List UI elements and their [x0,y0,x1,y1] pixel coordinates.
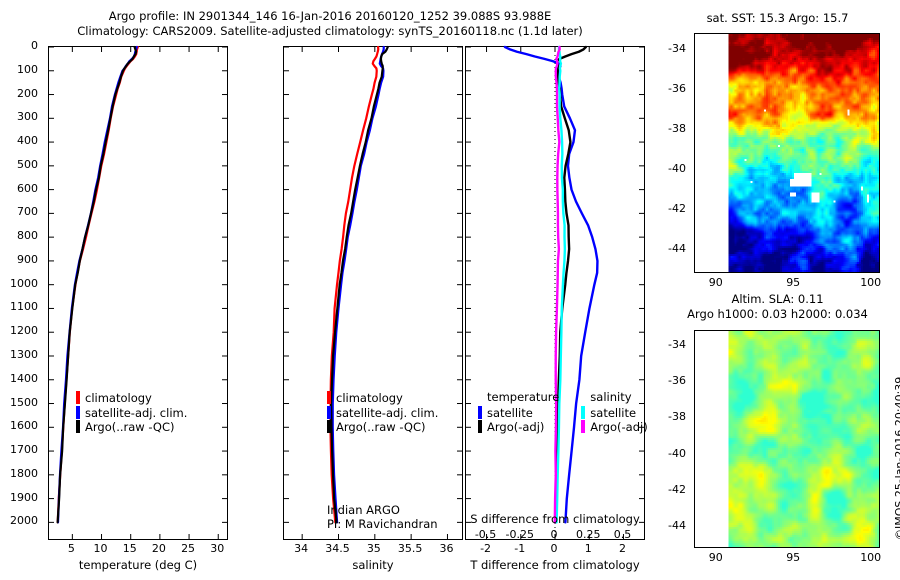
legend-color-swatch [327,391,331,404]
depth-tick-label: 1500 [10,396,38,409]
sst-map-frame [694,33,880,273]
temperature-difference-tick-label: 2 [598,542,646,555]
sst-latitude-tick-label: -34 [668,42,686,55]
sst-latitude-tick-label: -38 [668,122,686,135]
salinity-legend-row: Argo(..raw -QC) [327,419,438,434]
legend-label: satellite [487,406,533,420]
legend-label: Argo(..raw -QC) [85,420,175,434]
temperature-plot-canvas [49,47,227,539]
legend-label: satellite-adj. clim. [336,406,438,420]
sla-map-frame [694,330,880,548]
temperature-plot-frame [48,46,228,540]
difference-plot-frame [465,46,645,540]
sla-map-latitude-ticklabels: -34-36-38-40-42-44 [650,330,692,548]
temperature-legend-row: climatology [76,390,187,405]
sst-latitude-tick-label: -42 [668,202,686,215]
temperature-difference-axis-label: T difference from climatology [459,558,651,572]
legend-label: Argo(-adj) [590,420,647,434]
sla-latitude-tick-label: -36 [668,374,686,387]
depth-tick-label: 1700 [10,443,38,456]
sst-map-longitude-ticklabels: 9095100 [694,275,880,291]
depth-axis-ticklabels: 0100200300400500600700800900100011001200… [0,46,44,540]
difference-legend-temperature: temperaturesatelliteArgo(-adj) [478,390,559,434]
legend-color-swatch [76,391,80,404]
legend-color-swatch [76,406,80,419]
legend-label: satellite [590,406,636,420]
legend-color-swatch [478,406,482,419]
salinity-plot-canvas [284,47,462,539]
depth-tick-label: 700 [17,205,38,218]
sst-longitude-tick-label: 90 [694,276,738,289]
depth-tick-label: 1300 [10,348,38,361]
sla-longitude-tick-label: 95 [771,551,815,564]
depth-tick-label: 100 [17,63,38,76]
project-annotation-line1: Indian ARGO [327,503,400,517]
difference-legend-salinity-row: Argo(-adj) [581,419,647,434]
legend-group-heading: temperature [478,390,559,405]
legend-label: Argo(-adj) [487,420,544,434]
temperature-difference-axis-ticklabels: -2-1012 [465,541,645,557]
legend-group-heading: salinity [581,390,647,405]
salinity-difference-tick-label: 0.5 [598,528,646,541]
sla-map-canvas [695,331,879,547]
depth-tick-label: 400 [17,134,38,147]
sla-latitude-tick-label: -44 [668,519,686,532]
temperature-axis-label: temperature (deg C) [48,558,228,572]
figure-title-line2: Climatology: CARS2009. Satellite-adjuste… [0,24,660,38]
depth-tick-label: 500 [17,158,38,171]
salinity-legend-row: satellite-adj. clim. [327,405,438,420]
temperature-tick-label: 30 [193,542,241,555]
salinity-legend: climatologysatellite-adj. clim.Argo(..ra… [327,390,438,434]
depth-tick-label: 600 [17,182,38,195]
sla-map-title-line1: Altim. SLA: 0.11 [660,292,895,306]
temperature-legend: climatologysatellite-adj. clim.Argo(..ra… [76,390,187,434]
salinity-axis-ticklabels: 3434.53535.536 [283,541,463,557]
sla-latitude-tick-label: -34 [668,338,686,351]
sst-latitude-tick-label: -36 [668,82,686,95]
sla-map-longitude-ticklabels: 9095100 [694,550,880,566]
sla-longitude-tick-label: 100 [849,551,893,564]
sst-map-title: sat. SST: 15.3 Argo: 15.7 [660,11,895,25]
legend-label: climatology [336,391,403,405]
sla-latitude-tick-label: -40 [668,447,686,460]
temperature-legend-row: Argo(..raw -QC) [76,419,187,434]
sst-map-canvas [695,34,879,272]
difference-legend: temperaturesatelliteArgo(-adj)salinitysa… [478,390,648,434]
difference-legend-temperature-row: satellite [478,405,559,420]
depth-tick-label: 1000 [10,277,38,290]
salinity-axis-label: salinity [283,558,463,572]
depth-tick-label: 1400 [10,372,38,385]
sla-latitude-tick-label: -38 [668,410,686,423]
depth-tick-label: 0 [31,39,38,52]
figure-title-line1: Argo profile: IN 2901344_146 16-Jan-2016… [0,9,660,23]
salinity-difference-axis-ticklabels: -0.5-0.2500.250.5 [465,527,645,541]
depth-tick-label: 2000 [10,514,38,527]
difference-plot-canvas [466,47,644,539]
legend-color-swatch [478,420,482,433]
project-annotation-line2: PI: M Ravichandran [327,517,438,531]
temperature-axis-ticklabels: 51015202530 [48,541,228,557]
sla-map-title-line2: Argo h1000: 0.03 h2000: 0.034 [650,307,900,321]
depth-tick-label: 1800 [10,467,38,480]
depth-tick-label: 800 [17,229,38,242]
difference-legend-salinity: salinitysatelliteArgo(-adj) [581,390,647,434]
sst-longitude-tick-label: 100 [849,276,893,289]
temperature-legend-row: satellite-adj. clim. [76,405,187,420]
depth-tick-label: 300 [17,110,38,123]
copyright-label: ©IMOS 25-Jan-2016 20:40:39 [893,377,900,540]
difference-legend-salinity-row: satellite [581,405,647,420]
depth-tick-label: 1200 [10,324,38,337]
sst-latitude-tick-label: -40 [668,162,686,175]
salinity-plot-frame [283,46,463,540]
depth-tick-label: 1600 [10,419,38,432]
difference-legend-temperature-row: Argo(-adj) [478,419,559,434]
legend-color-swatch [581,406,585,419]
legend-label: climatology [85,391,152,405]
sst-map-latitude-ticklabels: -34-36-38-40-42-44 [650,33,692,273]
sst-latitude-tick-label: -44 [668,242,686,255]
depth-tick-label: 200 [17,87,38,100]
depth-tick-label: 1900 [10,491,38,504]
legend-color-swatch [327,406,331,419]
salinity-legend-row: climatology [327,390,438,405]
sla-latitude-tick-label: -42 [668,483,686,496]
sst-longitude-tick-label: 95 [771,276,815,289]
sla-longitude-tick-label: 90 [694,551,738,564]
legend-color-swatch [581,420,585,433]
legend-label: satellite-adj. clim. [85,406,187,420]
depth-tick-label: 1100 [10,300,38,313]
depth-tick-label: 900 [17,253,38,266]
legend-label: Argo(..raw -QC) [336,420,426,434]
salinity-difference-axis-label: S difference from climatology [459,512,651,526]
legend-color-swatch [327,420,331,433]
legend-color-swatch [76,420,80,433]
